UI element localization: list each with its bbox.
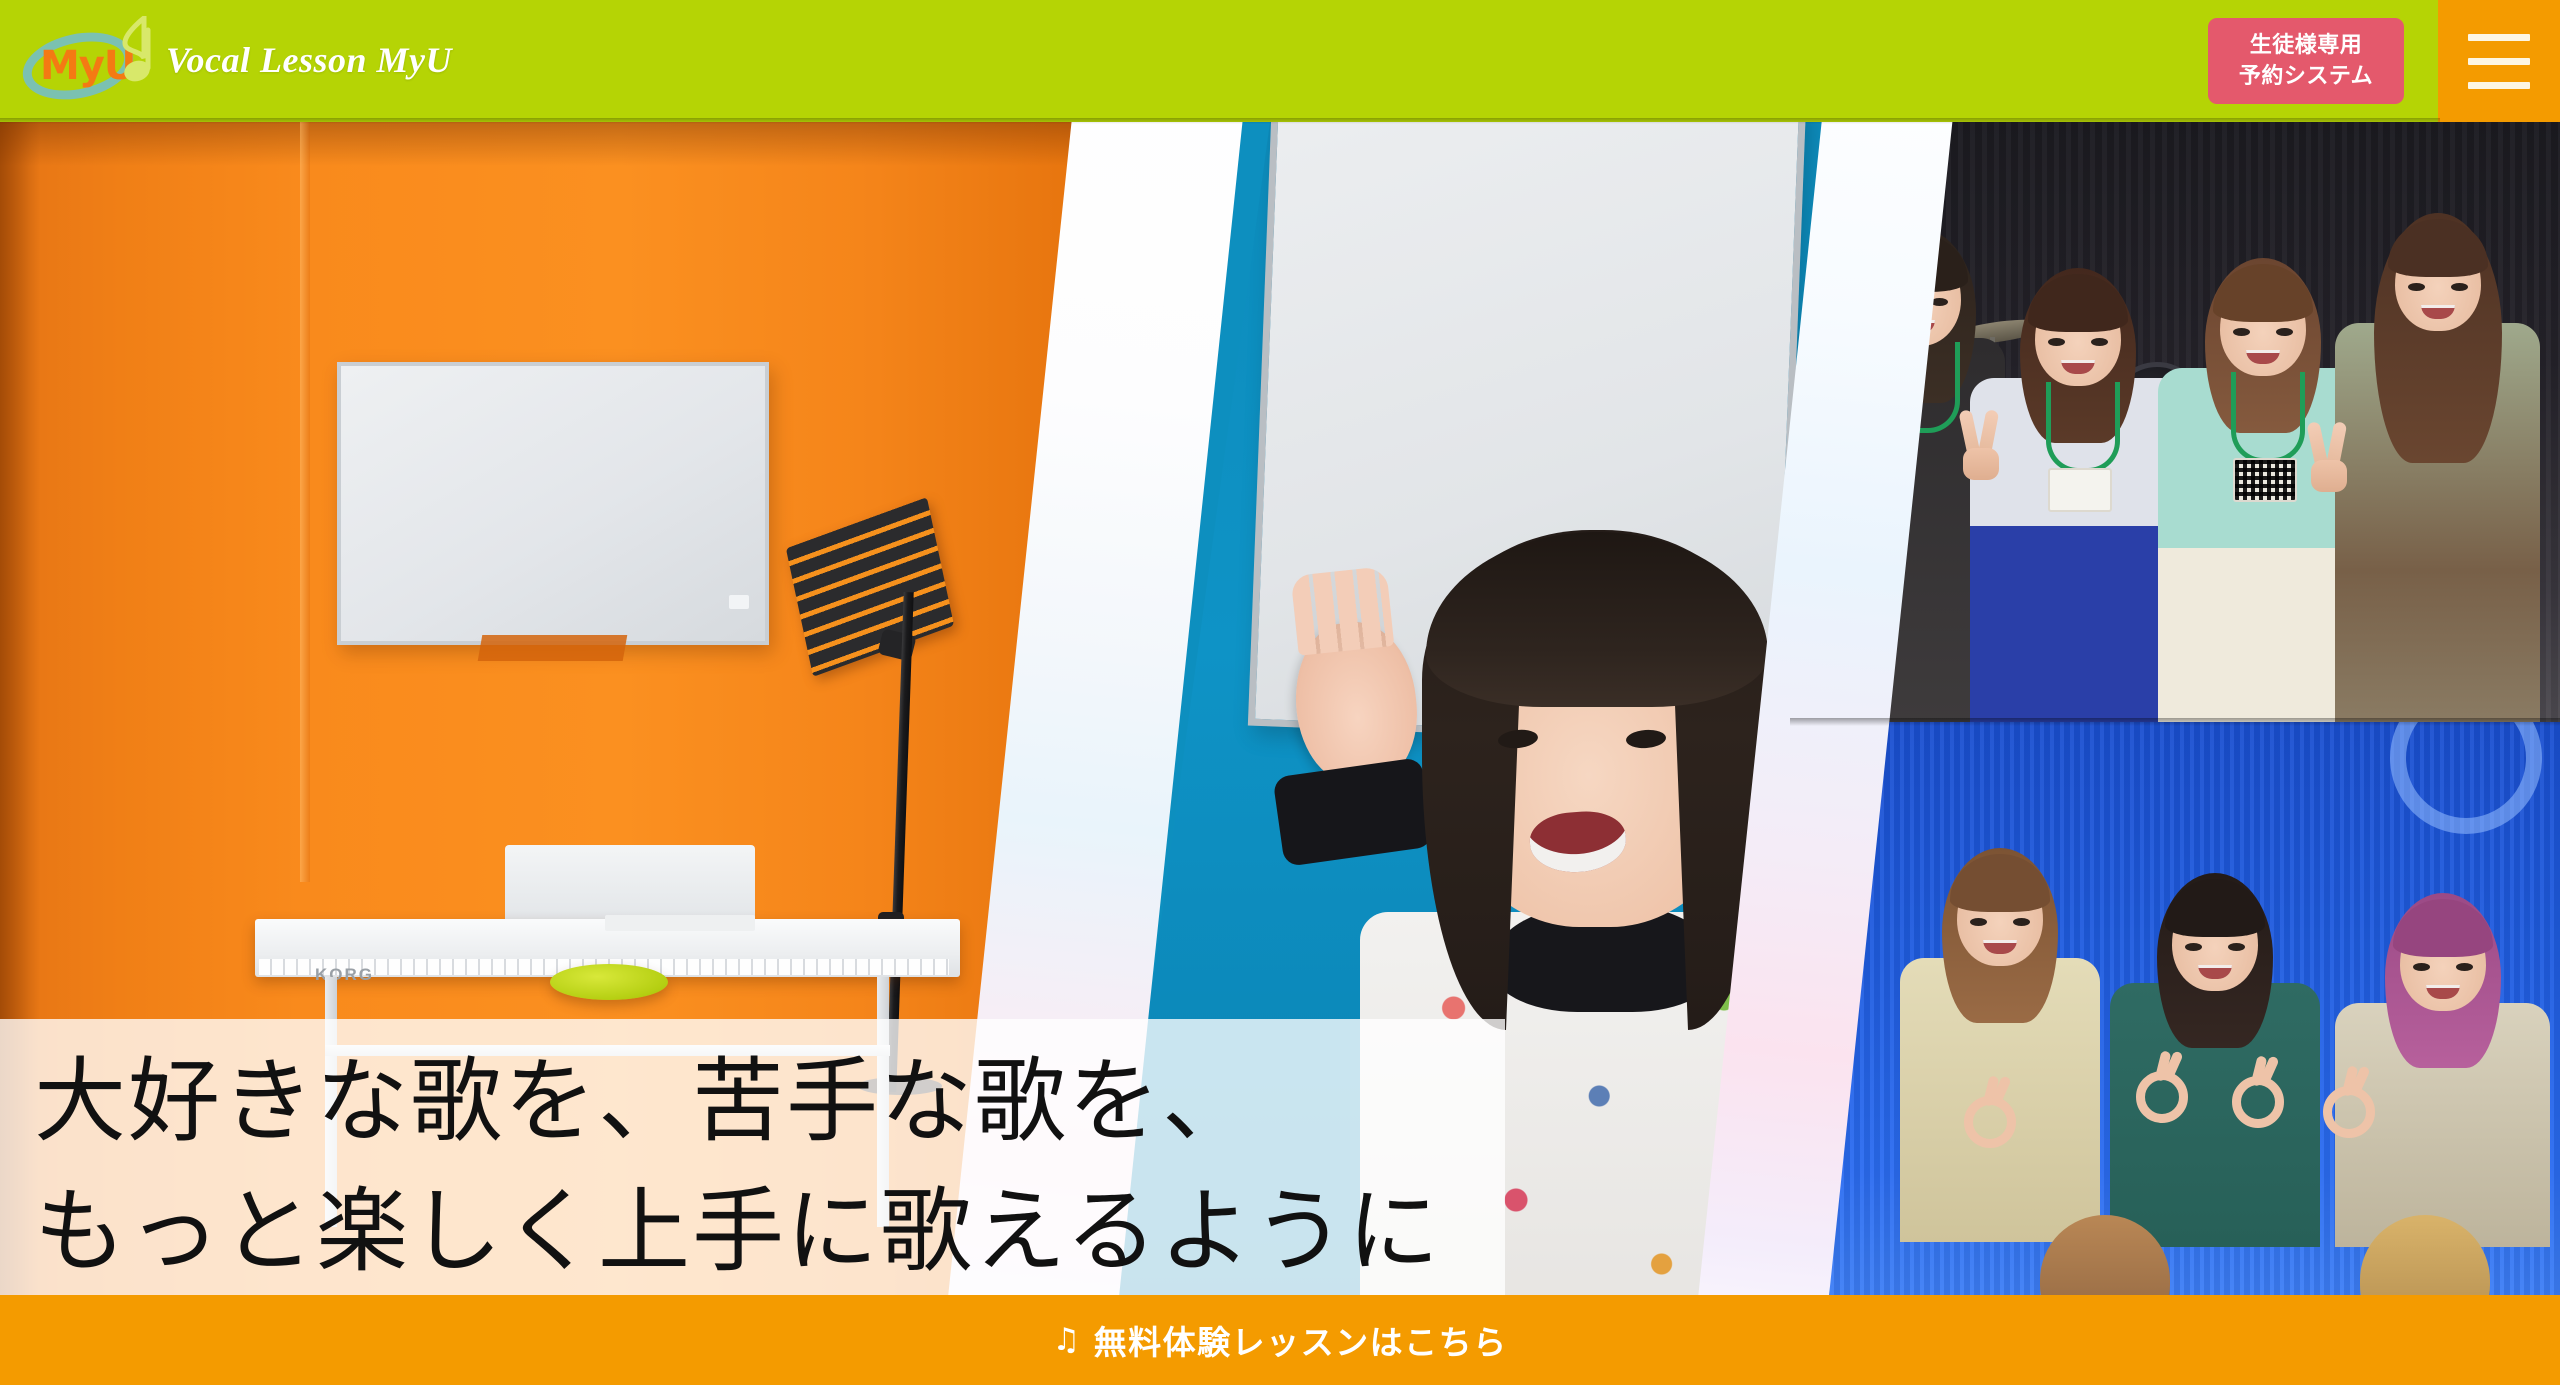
peace-sign-hand	[2310, 422, 2348, 492]
person-bangs	[1868, 234, 1968, 292]
person-bangs	[2393, 899, 2493, 957]
hero-panel-stage-group	[1790, 122, 2560, 722]
site-header: MyU Vocal Lesson MyU 生徒様専用 予約システム	[0, 0, 2560, 122]
hero-panel-blue-backdrop-group	[1790, 722, 2560, 1295]
wall-seam	[300, 122, 310, 882]
stage-person	[1970, 282, 2185, 722]
room-ceiling	[0, 122, 1230, 166]
peace-sign-hand	[1962, 410, 2000, 480]
cta-label: 無料体験レッスンはこちら	[1094, 1316, 1508, 1364]
ok-sign-hand	[2319, 1072, 2365, 1130]
person-bangs	[2388, 219, 2488, 277]
person-bangs	[2028, 274, 2128, 332]
person-lanyard	[1886, 342, 1960, 433]
backdrop-person	[1900, 862, 2100, 1242]
person-lanyard	[2231, 372, 2305, 463]
person-eyes	[2048, 338, 2108, 347]
headline-line-1: 大好きな歌を、苦手な歌を、	[34, 1037, 1505, 1167]
backdrop-person	[2335, 907, 2550, 1247]
hamburger-menu-icon[interactable]	[2438, 0, 2560, 122]
person-eyes	[2233, 328, 2293, 337]
music-note-icon	[114, 16, 154, 90]
person-bangs	[2165, 879, 2265, 937]
whiteboard	[337, 362, 769, 645]
reserve-button-line-2: 予約システム	[2239, 61, 2373, 92]
site-logo[interactable]: MyU Vocal Lesson MyU	[18, 8, 438, 112]
ok-sign-hand	[2132, 1057, 2178, 1115]
person-eyes	[1888, 298, 1948, 307]
backdrop-person	[2110, 887, 2320, 1247]
korg-keyboard: KORG	[255, 867, 960, 1037]
ok-sign-hand	[1960, 1082, 2006, 1140]
page-root: KORG	[0, 0, 2560, 1385]
keyboard-controls	[605, 915, 755, 931]
free-trial-cta-bar[interactable]: ♫ 無料体験レッスンはこちら	[0, 1295, 2560, 1385]
music-notes-icon: ♫	[1052, 1325, 1081, 1356]
keyboard-brand-label: KORG	[315, 965, 374, 985]
myu-logo-mark: MyU	[18, 10, 148, 110]
person-bangs	[1950, 854, 2050, 912]
hamburger-bar	[2468, 58, 2530, 65]
keyboard-back-panel	[505, 845, 755, 925]
site-wordmark: Vocal Lesson MyU	[166, 39, 452, 81]
reserve-button-line-1: 生徒様専用	[2250, 30, 2363, 61]
hamburger-bar	[2468, 82, 2530, 89]
person-lanyard	[2046, 382, 2120, 473]
person-eyes	[2413, 963, 2473, 972]
person-qr-badge	[2233, 458, 2297, 502]
person-name-badge	[2048, 468, 2112, 512]
person-bangs	[2213, 264, 2313, 322]
stage-person	[2335, 227, 2540, 722]
hamburger-bar	[2468, 34, 2530, 41]
hero-headline: 大好きな歌を、苦手な歌を、 もっと楽しく上手に歌えるように	[0, 1019, 1505, 1295]
student-reservation-button[interactable]: 生徒様専用 予約システム	[2208, 18, 2404, 104]
green-stool	[550, 964, 668, 1000]
hero-section: KORG	[0, 122, 2560, 1295]
cta-content: ♫ 無料体験レッスンはこちら	[1052, 1316, 1507, 1364]
person-eyes	[2185, 943, 2245, 952]
ok-sign-hand	[2228, 1062, 2274, 1120]
headline-line-2: もっと楽しく上手に歌えるように	[34, 1167, 1505, 1295]
person-eyes	[1970, 918, 2030, 927]
whiteboard-tray	[478, 635, 628, 661]
person-eyes	[2408, 283, 2468, 292]
